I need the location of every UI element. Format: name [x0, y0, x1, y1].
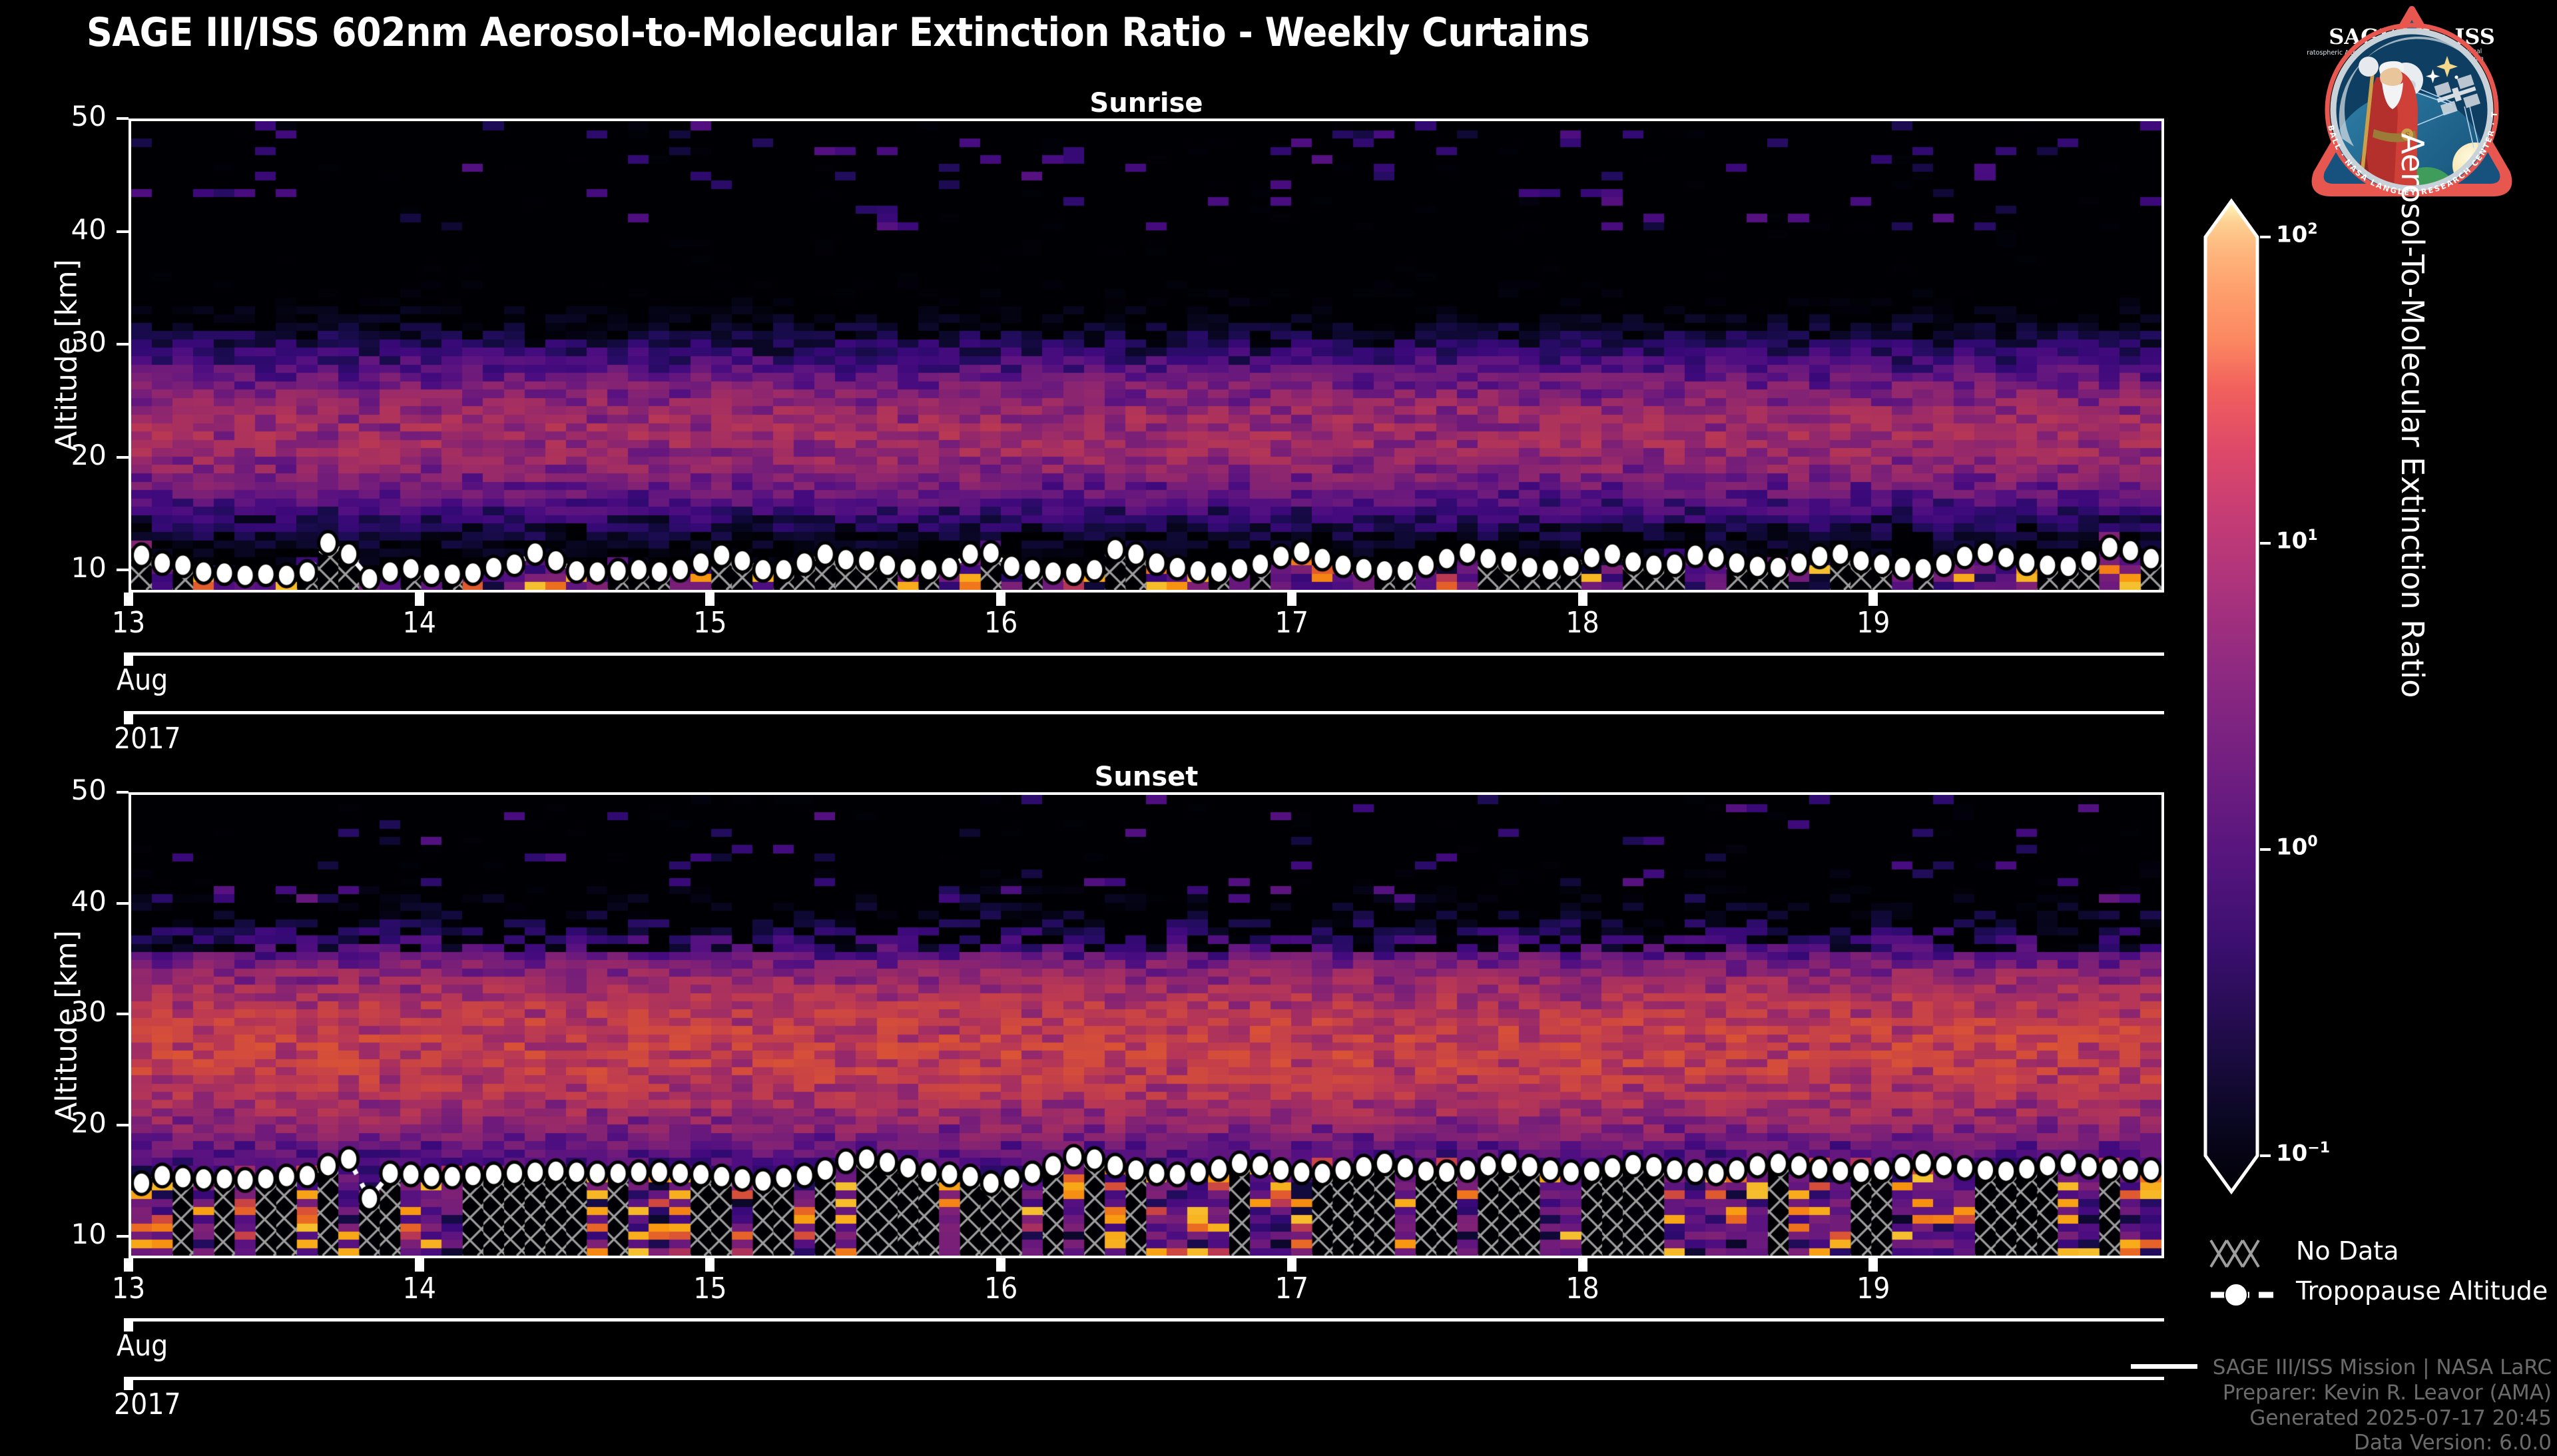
ytick-mark — [117, 902, 129, 905]
legend-label-no-data: No Data — [2296, 1236, 2399, 1266]
xtick-label-day: 19 — [1820, 606, 1926, 640]
xtick-label-day: 14 — [366, 606, 473, 640]
colorbar-tick-mark — [2260, 236, 2271, 238]
colorbar-tick-label: 101 — [2276, 527, 2318, 554]
xtick-mark — [415, 1258, 424, 1272]
ytick-mark — [117, 1013, 129, 1015]
dashed-line-marker-icon — [2209, 1275, 2283, 1310]
xaxis-level-line — [129, 652, 2164, 656]
xtick-mark — [705, 1258, 714, 1272]
hatch-no-data-icon — [2209, 1235, 2283, 1270]
xtick-mark — [996, 1258, 1005, 1272]
ytick-mark — [117, 343, 129, 346]
ytick-mark — [117, 1235, 129, 1238]
xtick-mark — [1287, 593, 1296, 606]
xtick-label-day: 13 — [75, 606, 182, 640]
footer-rule — [2131, 1363, 2204, 1371]
xtick-mark — [1868, 1258, 1878, 1272]
colorbar-label: Aerosol-To-Molecular Extinction Ratio — [2395, 133, 2430, 698]
ytick-label: 40 — [20, 213, 107, 246]
ytick-mark — [117, 230, 129, 233]
colorbar-tick-label: 10−1 — [2276, 1140, 2330, 1166]
ytick-mark — [117, 456, 129, 459]
xtick-mark — [415, 593, 424, 606]
xtick-label-day: 17 — [1239, 606, 1345, 640]
footer-credits: SAGE III/ISS Mission | NASA LaRC Prepare… — [2213, 1355, 2552, 1456]
colorbar-tick-label: 102 — [2276, 221, 2318, 248]
ytick-label: 50 — [20, 100, 107, 132]
heatmap-sunrise[interactable] — [129, 119, 2164, 593]
xtick-label-day: 19 — [1820, 1272, 1926, 1306]
legend-label-tropopause: Tropopause Altitude — [2296, 1276, 2548, 1306]
panel-sunset: Sunset Altitude [km] 1020304050 13141516… — [0, 666, 2557, 1371]
colorbar-tick-mark — [2260, 848, 2271, 851]
ytick-label: 10 — [20, 551, 107, 584]
xtick-mark — [124, 593, 133, 606]
xaxis-level-line — [129, 1377, 2164, 1380]
xtick-mark — [1287, 1258, 1296, 1272]
ytick-label: 40 — [20, 885, 107, 917]
figure-canvas: SAGE III/ISS 602nm Aerosol-to-Molecular … — [0, 0, 2557, 1438]
ytick-mark — [117, 117, 129, 120]
xaxis-level-line — [129, 1318, 2164, 1322]
footer-line-data-version: Data Version: 6.0.0 — [2213, 1431, 2552, 1456]
ytick-label: 20 — [20, 1106, 107, 1139]
xtick-mark — [1868, 593, 1878, 606]
heatmap-sunset[interactable] — [129, 792, 2164, 1258]
panel-title-sunrise: Sunrise — [129, 88, 2164, 119]
panel-sunrise: Sunrise Altitude [km] 1020304050 1314151… — [0, 0, 2557, 666]
xtick-label-day: 18 — [1530, 606, 1636, 640]
xtick-mark — [996, 593, 1005, 606]
ytick-mark — [117, 791, 129, 794]
ytick-label: 50 — [20, 774, 107, 806]
ytick-label: 10 — [20, 1218, 107, 1250]
xtick-label-day: 15 — [657, 1272, 763, 1306]
xtick-mark — [124, 1258, 133, 1272]
xtick-mark — [1578, 593, 1587, 606]
xaxis-month-label: Aug — [117, 1329, 168, 1363]
xtick-label-day: 16 — [948, 1272, 1054, 1306]
xtick-label-day: 16 — [948, 606, 1054, 640]
colorbar-tick-label: 100 — [2276, 834, 2318, 860]
xaxis-year-label: 2017 — [114, 1387, 181, 1421]
xtick-label-day: 15 — [657, 606, 763, 640]
ytick-label: 30 — [20, 995, 107, 1028]
footer-line-generated: Generated 2025-07-17 20:45 — [2213, 1406, 2552, 1431]
xtick-label-day: 14 — [366, 1272, 473, 1306]
footer-line-mission: SAGE III/ISS Mission | NASA LaRC — [2213, 1355, 2552, 1381]
ytick-label: 20 — [20, 439, 107, 471]
xtick-label-day: 13 — [75, 1272, 182, 1306]
ytick-label: 30 — [20, 326, 107, 358]
ytick-mark — [117, 569, 129, 571]
xtick-mark — [1578, 1258, 1587, 1272]
colorbar-tick-mark — [2260, 542, 2271, 545]
xtick-mark — [705, 593, 714, 606]
panel-title-sunset: Sunset — [129, 762, 2164, 792]
colorbar-tick-mark — [2260, 1154, 2271, 1157]
xtick-label-day: 18 — [1530, 1272, 1636, 1306]
ytick-mark — [117, 1124, 129, 1126]
xtick-label-day: 17 — [1239, 1272, 1345, 1306]
colorbar-gradient — [2205, 201, 2257, 1192]
footer-line-preparer: Preparer: Kevin R. Leavor (AMA) — [2213, 1381, 2552, 1406]
